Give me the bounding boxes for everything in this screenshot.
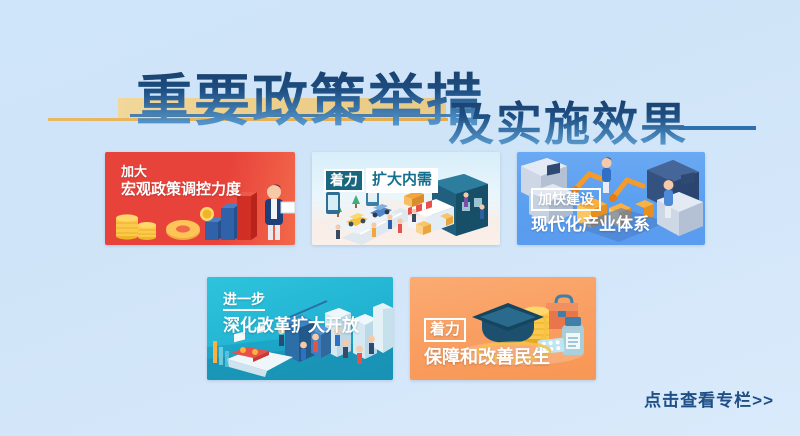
- card-1-caption: 加大 宏观政策调控力度: [121, 164, 241, 199]
- card-5-tag: 着力: [424, 318, 466, 342]
- page-subtitle: 及实施效果: [448, 88, 688, 154]
- card-1-line2: 宏观政策调控力度: [121, 181, 241, 199]
- card-3-line1: 加快建设: [531, 188, 601, 211]
- card-4-line2: 深化改革扩大开放: [223, 316, 359, 336]
- card-5-caption: 着力 保障和改善民生: [424, 318, 550, 368]
- card-2-line2: 扩大内需: [366, 168, 438, 193]
- card-modern-industry[interactable]: 加快建设 现代化产业体系: [517, 152, 705, 245]
- card-2-tag: 着力: [324, 169, 364, 192]
- card-improve-livelihood[interactable]: 着力 保障和改善民生: [410, 277, 596, 380]
- title-blue-dash: [678, 126, 756, 130]
- card-4-line1: 进一步: [223, 291, 265, 311]
- page-title: 重要政策举措: [136, 56, 484, 137]
- policy-banner: 重要政策举措 及实施效果: [0, 0, 800, 436]
- card-macro-policy[interactable]: 加大 宏观政策调控力度: [105, 152, 295, 245]
- card-4-caption: 进一步 深化改革扩大开放: [223, 291, 359, 336]
- card-5-line2: 保障和改善民生: [424, 347, 550, 368]
- card-2-caption: 着力 扩大内需: [324, 168, 438, 193]
- card-reform-opening[interactable]: 进一步 深化改革扩大开放: [207, 277, 393, 380]
- view-column-link[interactable]: 点击查看专栏>>: [644, 386, 774, 411]
- banner-title-block: 重要政策举措 及实施效果: [0, 22, 800, 140]
- card-3-line2: 现代化产业体系: [531, 215, 650, 235]
- card-expand-demand[interactable]: 着力 扩大内需: [312, 152, 500, 245]
- card-3-caption: 加快建设 现代化产业体系: [531, 188, 650, 235]
- card-1-line1: 加大: [121, 164, 241, 179]
- city-consumption-icon: [312, 152, 500, 245]
